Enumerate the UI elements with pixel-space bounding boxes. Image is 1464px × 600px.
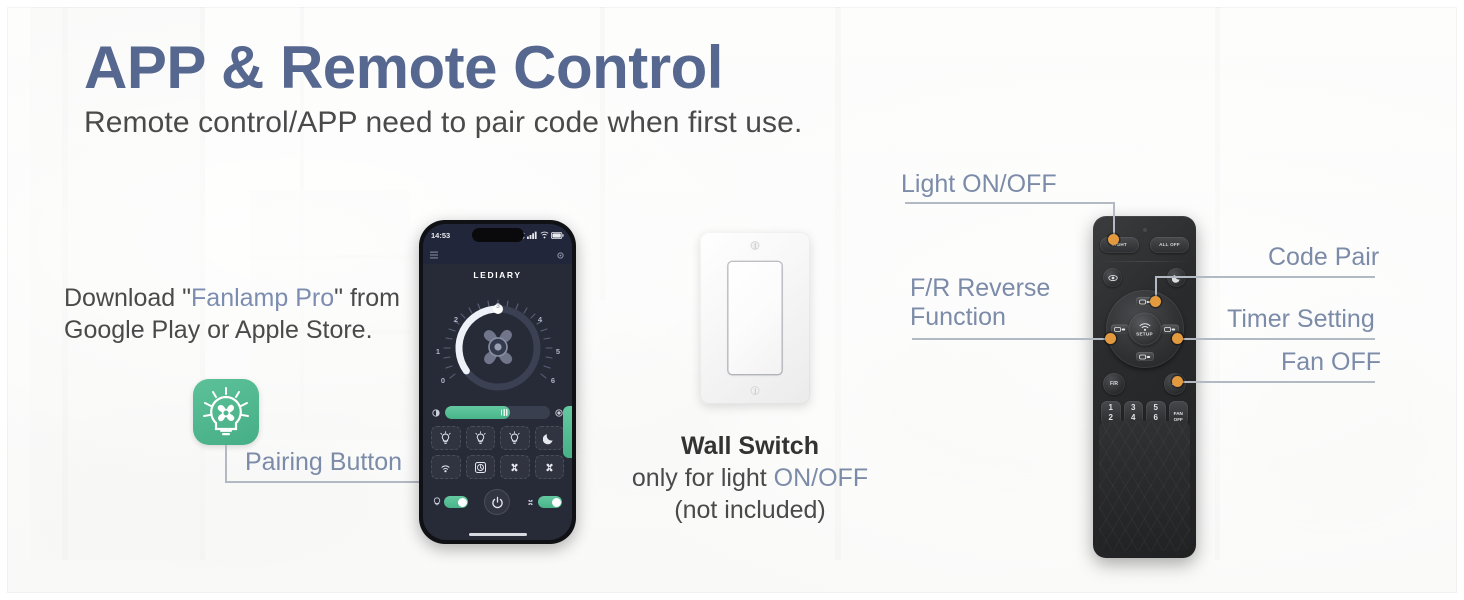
color-temp-down-icon <box>1139 354 1151 360</box>
brightness-down-icon <box>1114 326 1126 332</box>
leader-light-onoff-drop <box>1113 202 1115 238</box>
remote-dim-button[interactable] <box>1103 268 1122 287</box>
marker-fan-off <box>1172 376 1183 387</box>
brightness-slider[interactable] <box>445 406 550 419</box>
brightness-high-icon <box>555 409 563 417</box>
key-5[interactable]: 5 <box>1154 403 1158 412</box>
phone-screen: 14:53 LEDIARY <box>423 224 572 540</box>
moon-night-icon[interactable] <box>535 426 565 450</box>
callout-fr-reverse: F/R Reverse Function <box>910 274 1050 332</box>
ir-emitter-icon <box>1143 228 1147 232</box>
wall-switch-line3: (not included) <box>674 496 825 524</box>
power-icon[interactable] <box>484 489 510 515</box>
fan-toggle-group[interactable] <box>526 496 562 508</box>
light-toggle-group[interactable] <box>433 496 468 508</box>
bulb-small-icon <box>433 497 441 507</box>
svg-text:5: 5 <box>555 347 559 356</box>
phone-bottom-controls <box>423 479 572 515</box>
callout-fr-reverse-line1: F/R Reverse <box>910 274 1050 302</box>
brightness-slider-row[interactable] <box>423 400 572 419</box>
marker-fr-reverse <box>1105 333 1116 344</box>
wall-switch-onoff-accent: ON/OFF <box>774 464 868 492</box>
leader-timer-setting <box>1176 338 1375 340</box>
fan-speed-dial[interactable]: 0 1 2 3 4 5 6 <box>423 282 572 400</box>
callout-light-onoff: Light ON/OFF <box>901 170 1057 199</box>
slider-handle[interactable] <box>501 409 508 416</box>
fan-reverse-icon[interactable] <box>500 455 530 479</box>
remote-light-onoff-button[interactable]: LIGHT <box>1100 237 1139 253</box>
color-temp-up-icon <box>1164 326 1176 332</box>
bulb-neutral-icon[interactable] <box>466 426 496 450</box>
remote-fr-label: F/R <box>1110 381 1118 387</box>
svg-text:6: 6 <box>550 376 554 385</box>
brightness-low-icon <box>432 409 440 417</box>
pairing-icon[interactable] <box>431 455 461 479</box>
light-toggle[interactable] <box>444 496 468 508</box>
timer-icon[interactable] <box>466 455 496 479</box>
fan-bulb-app-icon[interactable] <box>193 379 259 445</box>
dynamic-island <box>472 228 524 242</box>
leader-fan-off <box>1180 381 1375 383</box>
leader-code-pair <box>1155 276 1375 278</box>
svg-text:2: 2 <box>453 315 457 324</box>
fan-toggle[interactable] <box>538 496 562 508</box>
page-title: APP & Remote Control <box>84 38 723 98</box>
wall-switch-line2-pre: only for light <box>632 464 774 492</box>
svg-text:0: 0 <box>440 376 444 385</box>
leader-light-onoff <box>905 202 1115 204</box>
app-brand-name: Fanlamp Pro <box>191 284 334 312</box>
edge-vertical-slider[interactable] <box>563 406 572 458</box>
marker-code-pair <box>1150 296 1161 307</box>
status-icons <box>519 231 565 240</box>
key-1[interactable]: 1 <box>1109 403 1113 412</box>
callout-fr-reverse-line2: Function <box>910 303 1006 331</box>
remote-dpad: SETUP <box>1106 290 1184 368</box>
wall-switch-caption: Wall Switch only for light ON/OFF (not i… <box>600 430 900 526</box>
phone-status-bar: 14:53 <box>423 224 572 246</box>
svg-text:1: 1 <box>435 347 439 356</box>
remote-control: LIGHT ALL OFF <box>1093 216 1196 558</box>
battery-icon <box>551 232 564 239</box>
bulb-warm-icon[interactable] <box>431 426 461 450</box>
brightness-up-icon <box>1139 299 1151 305</box>
download-instructions: Download "Fanlamp Pro" from Google Play … <box>64 282 424 346</box>
screw-top-icon <box>751 241 760 250</box>
settings-gear-icon[interactable] <box>556 251 565 260</box>
remote-setup-button[interactable]: SETUP <box>1128 313 1161 346</box>
wall-switch-plate <box>700 232 810 404</box>
svg-text:3: 3 <box>495 301 499 310</box>
download-text-line2: Google Play or Apple Store. <box>64 316 373 344</box>
phone-app-bar <box>423 246 572 264</box>
download-text-pre: Download " <box>64 284 191 312</box>
eye-dim-icon <box>1108 273 1118 283</box>
svg-text:4: 4 <box>537 315 542 324</box>
remote-setup-label: SETUP <box>1136 331 1153 336</box>
wall-switch-title: Wall Switch <box>681 432 819 460</box>
remote-all-off-label: ALL OFF <box>1159 243 1180 248</box>
leader-fr-reverse <box>912 338 1114 340</box>
download-text-post: " from <box>334 284 400 312</box>
screw-bottom-icon <box>751 386 760 395</box>
remote-all-off-button[interactable]: ALL OFF <box>1150 237 1189 253</box>
remote-grip-texture <box>1099 421 1190 551</box>
fan-small-icon <box>526 498 535 507</box>
pairing-leader-vertical <box>225 445 227 481</box>
marker-timer-setting <box>1172 333 1183 344</box>
scene-button-grid <box>423 419 572 479</box>
remote-divider <box>1098 261 1191 262</box>
pairing-leader-horizontal <box>225 481 443 483</box>
bulb-cool-icon[interactable] <box>500 426 530 450</box>
cellular-signal-icon <box>527 231 537 239</box>
callout-pairing-button: Pairing Button <box>245 448 402 477</box>
app-brand-title: LEDIARY <box>423 264 572 282</box>
page-subtitle: Remote control/APP need to pair code whe… <box>84 105 802 141</box>
dpad-down-button[interactable] <box>1136 352 1154 361</box>
fan-forward-icon[interactable] <box>535 455 565 479</box>
callout-timer-setting: Timer Setting <box>1227 305 1375 334</box>
infographic-banner: APP & Remote Control Remote control/APP … <box>0 0 1464 600</box>
app-bar-title <box>496 252 499 259</box>
key-3[interactable]: 3 <box>1131 403 1135 412</box>
remote-fr-button[interactable]: F/R <box>1103 373 1125 395</box>
callout-fan-off: Fan OFF <box>1281 348 1381 377</box>
dpad-left-button[interactable] <box>1111 325 1129 334</box>
wifi-icon <box>540 231 549 239</box>
status-time: 14:53 <box>431 231 450 240</box>
wifi-pair-icon <box>1138 322 1151 331</box>
callout-code-pair: Code Pair <box>1268 243 1379 272</box>
rocker-switch[interactable] <box>729 262 782 374</box>
menu-icon[interactable] <box>430 251 438 259</box>
smartphone-mockup: 14:53 LEDIARY <box>419 220 576 544</box>
marker-light-onoff <box>1108 234 1119 245</box>
home-indicator <box>469 533 527 537</box>
